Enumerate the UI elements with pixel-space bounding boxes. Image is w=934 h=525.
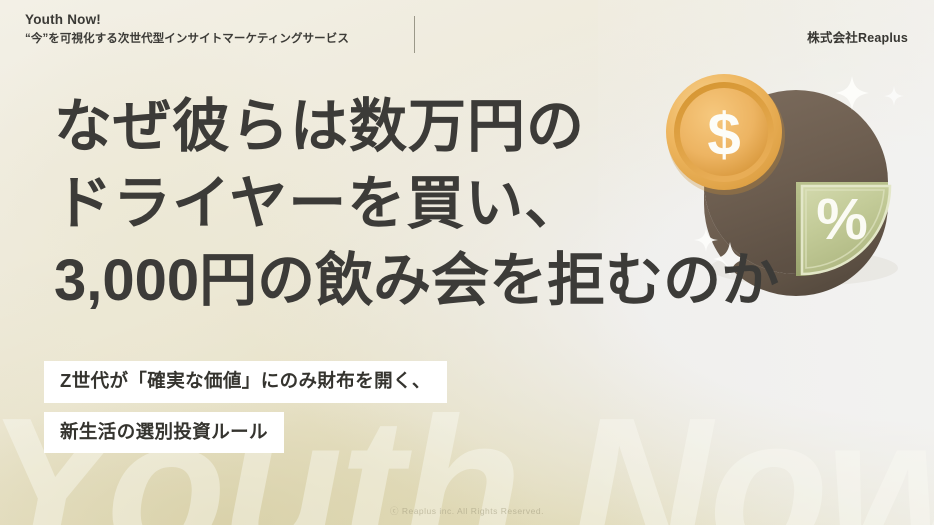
subtitle-row: 新生活の選別投資ルール	[44, 412, 447, 454]
copyright-text: ⓒ Reaplus inc. All Rights Reserved.	[0, 505, 934, 517]
subtitle-box-2: 新生活の選別投資ルール	[44, 412, 284, 454]
header-divider	[414, 16, 415, 53]
subtitle-row: Z世代が「確実な価値」にのみ財布を開く、	[44, 361, 447, 403]
company-name: 株式会社Reaplus	[807, 27, 908, 46]
subtitle-box-1: Z世代が「確実な価値」にのみ財布を開く、	[44, 361, 447, 403]
page-title: なぜ彼らは数万円の ドライヤーを買い、 3,000円の飲み会を拒むのか	[54, 88, 779, 319]
brand-block: Youth Now! “今”を可視化する次世代型インサイトマーケティングサービス	[25, 12, 349, 47]
percent-symbol: %	[816, 187, 868, 252]
headline-line-3: 3,000円の飲み会を拒むのか	[54, 242, 779, 319]
subtitle-group: Z世代が「確実な価値」にのみ財布を開く、 新生活の選別投資ルール	[44, 361, 447, 453]
brand-logo: Youth Now!	[25, 12, 349, 29]
brand-tagline: “今”を可視化する次世代型インサイトマーケティングサービス	[25, 32, 349, 47]
headline-line-2: ドライヤーを買い、	[54, 165, 779, 242]
slide-canvas: Youth Now! Youth Now! Youth Now! “今”を可視化…	[0, 0, 934, 525]
headline-line-1: なぜ彼らは数万円の	[54, 88, 779, 165]
sparkle-icon	[884, 86, 904, 106]
